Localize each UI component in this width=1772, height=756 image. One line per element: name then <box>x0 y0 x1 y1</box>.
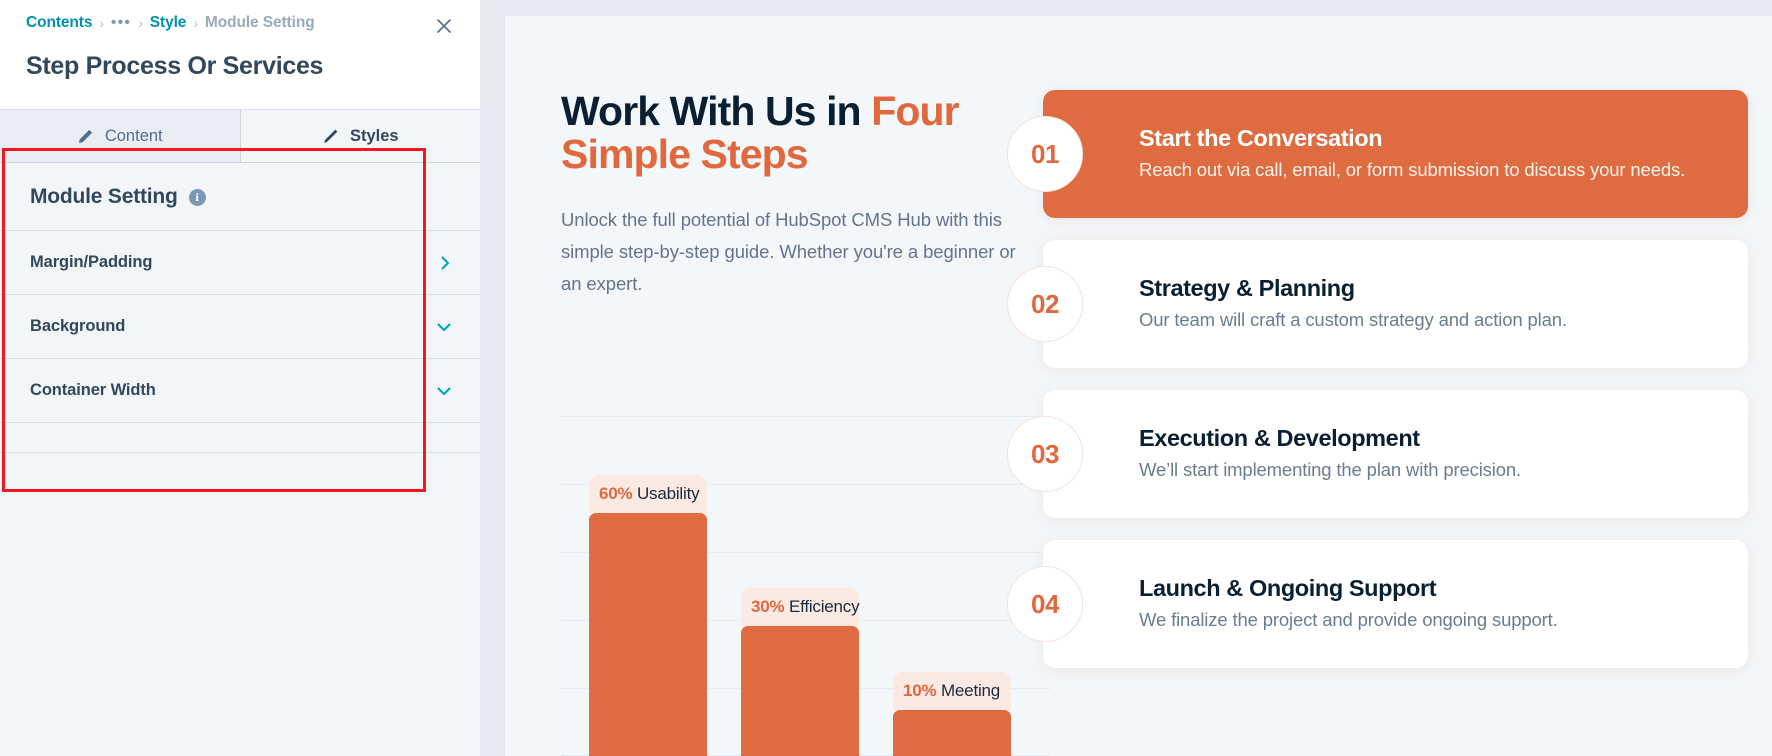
step-card-02[interactable]: 02 Strategy & Planning Our team will cra… <box>1043 240 1748 368</box>
bar-fill <box>589 513 707 756</box>
step-card-04[interactable]: 04 Launch & Ongoing Support We finalize … <box>1043 540 1748 668</box>
breadcrumb-current: Module Setting <box>205 14 315 32</box>
step-description: We finalize the project and provide ongo… <box>1139 607 1558 633</box>
bar-fill <box>741 626 859 756</box>
setting-row-background[interactable]: Background <box>0 295 480 359</box>
promo-heading-line1-accent: Four <box>871 88 959 134</box>
pencil-icon <box>322 128 339 145</box>
chevron-down-icon[interactable] <box>434 381 454 401</box>
sidebar-tabs: Content Styles <box>0 110 480 163</box>
app-root: Contents › ••• › Style › Module Setting … <box>0 0 1772 756</box>
bar-label: 60% Usability <box>589 475 707 513</box>
breadcrumb-separator-icon: › <box>193 15 198 31</box>
setting-row-container-width[interactable]: Container Width <box>0 359 480 423</box>
bar-label: 30% Efficiency <box>741 588 859 626</box>
bar-category: Usability <box>637 484 699 503</box>
chart-plot-area: 60% Usability 30% Efficiency <box>561 416 1051 756</box>
setting-row-label: Margin/Padding <box>30 253 152 272</box>
step-number-badge: 01 <box>1007 116 1083 192</box>
tab-content[interactable]: Content <box>0 110 241 163</box>
setting-row-label: Container Width <box>30 381 156 400</box>
tab-content-label: Content <box>105 127 163 146</box>
bar-category: Efficiency <box>789 597 859 616</box>
step-description: Reach out via call, email, or form submi… <box>1139 157 1685 183</box>
bar-category: Meeting <box>941 681 1000 700</box>
tab-styles[interactable]: Styles <box>241 110 481 163</box>
module-preview-canvas: Work With Us in Four Simple Steps Unlock… <box>505 16 1772 756</box>
breadcrumb-overflow-button[interactable]: ••• <box>111 18 131 28</box>
bar-fill <box>893 710 1011 756</box>
step-description: Our team will craft a custom strategy an… <box>1139 307 1567 333</box>
setting-row-margin-padding[interactable]: Margin/Padding <box>0 231 480 295</box>
bar-group-meeting[interactable]: 10% Meeting <box>893 672 1011 756</box>
bar-value: 10% <box>903 681 936 700</box>
panel-spacer <box>0 423 480 453</box>
module-setting-heading: Module Setting <box>30 185 178 209</box>
step-title: Start the Conversation <box>1139 125 1685 152</box>
promo-heading-line2-accent: Simple Steps <box>561 131 808 177</box>
step-description: We’ll start implementing the plan with p… <box>1139 457 1521 483</box>
chevron-right-icon[interactable] <box>436 254 454 272</box>
step-number-badge: 02 <box>1007 266 1083 342</box>
step-process-list: 01 Start the Conversation Reach out via … <box>1043 90 1748 690</box>
breadcrumb-contents-link[interactable]: Contents <box>26 14 92 32</box>
pencil-icon <box>77 128 94 145</box>
module-setting-panel: Module Setting i Margin/Padding Backgrou… <box>0 163 480 453</box>
module-setting-header: Module Setting i <box>0 163 480 231</box>
module-settings-sidebar: Contents › ••• › Style › Module Setting … <box>0 0 480 756</box>
step-title: Strategy & Planning <box>1139 275 1567 302</box>
step-card-03[interactable]: 03 Execution & Development We’ll start i… <box>1043 390 1748 518</box>
page-title: Step Process Or Services <box>26 52 323 81</box>
chart-bars: 60% Usability 30% Efficiency <box>561 416 1051 756</box>
bar-group-usability[interactable]: 60% Usability <box>589 475 707 756</box>
promo-heading: Work With Us in Four Simple Steps <box>561 90 1041 176</box>
chevron-down-icon[interactable] <box>434 317 454 337</box>
sidebar-header: Contents › ••• › Style › Module Setting … <box>0 0 480 110</box>
step-title: Launch & Ongoing Support <box>1139 575 1558 602</box>
breadcrumb-separator-icon: › <box>138 15 143 31</box>
tab-styles-label: Styles <box>350 127 399 146</box>
setting-row-label: Background <box>30 317 125 336</box>
step-number-badge: 03 <box>1007 416 1083 492</box>
close-icon[interactable] <box>434 16 454 36</box>
bar-value: 60% <box>599 484 632 503</box>
promo-block: Work With Us in Four Simple Steps Unlock… <box>561 90 1041 300</box>
breadcrumb-style-link[interactable]: Style <box>150 14 187 32</box>
bar-group-efficiency[interactable]: 30% Efficiency <box>741 588 859 756</box>
promo-subheading: Unlock the full potential of HubSpot CMS… <box>561 204 1041 299</box>
step-title: Execution & Development <box>1139 425 1521 452</box>
bar-value: 30% <box>751 597 784 616</box>
promo-heading-line1-plain: Work With Us in <box>561 88 871 134</box>
step-number-badge: 04 <box>1007 566 1083 642</box>
step-card-01[interactable]: 01 Start the Conversation Reach out via … <box>1043 90 1748 218</box>
info-icon[interactable]: i <box>189 189 206 206</box>
bar-label: 10% Meeting <box>893 672 1011 710</box>
breadcrumb: Contents › ••• › Style › Module Setting <box>26 14 315 32</box>
breadcrumb-separator-icon: › <box>99 15 104 31</box>
